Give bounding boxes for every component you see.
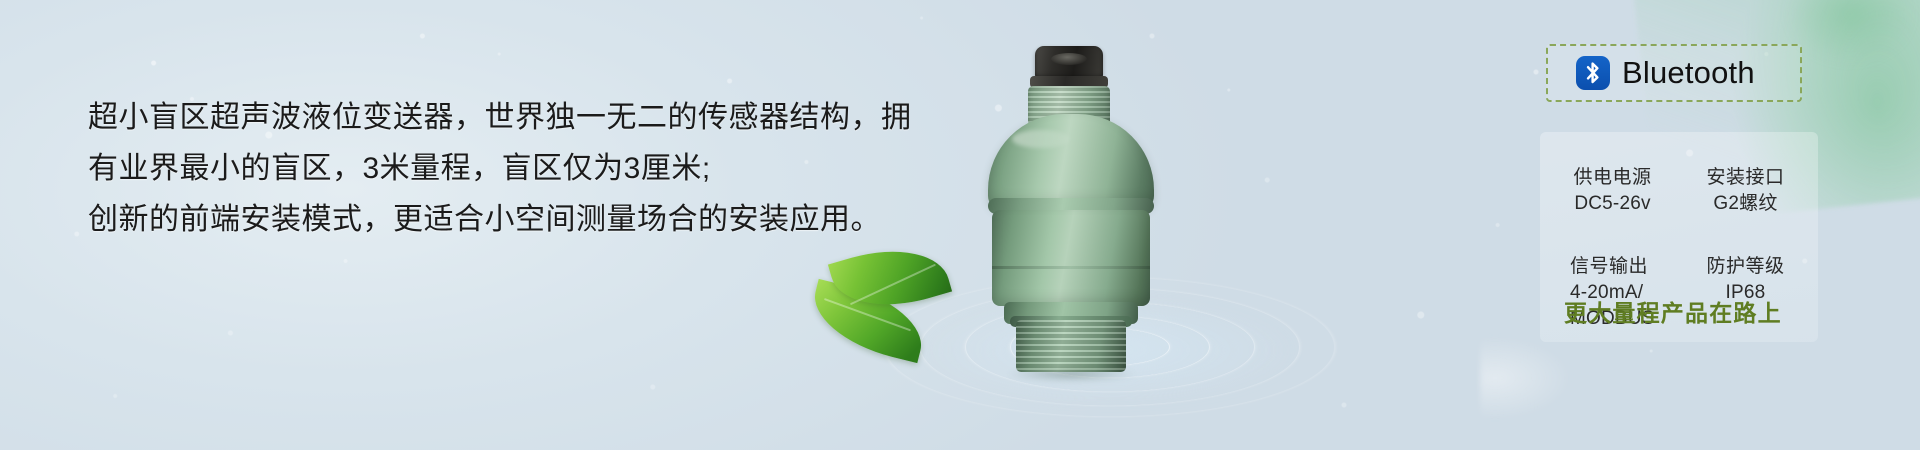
dome-highlight (1012, 130, 1070, 148)
spec-title: 防护等级 (1679, 253, 1812, 280)
product-shadow (1008, 366, 1136, 382)
headline-line-1: 超小盲区超声波液位变送器，世界独一无二的传感器结构，拥 (88, 92, 918, 143)
spec-item-power-supply: 供电电源 DC5-26v (1546, 164, 1679, 227)
spec-value: DC5-26v (1546, 191, 1679, 217)
bluetooth-badge[interactable]: Bluetooth (1546, 44, 1802, 102)
bluetooth-label: Bluetooth (1622, 55, 1755, 91)
leaf-vein (850, 264, 936, 305)
housing-barrel (992, 210, 1150, 306)
green-leaves-decoration (800, 248, 960, 368)
spec-title: 供电电源 (1546, 164, 1679, 191)
headline-line-3: 创新的前端安装模式，更适合小空间测量场合的安装应用。 (88, 194, 918, 245)
product-banner: 超小盲区超声波液位变送器，世界独一无二的传感器结构，拥 有业界最小的盲区，3米量… (0, 0, 1920, 450)
product-image-ultrasonic-level-transmitter (960, 30, 1240, 360)
spec-item-mounting-interface: 安装接口 G2螺纹 (1679, 164, 1812, 227)
bluetooth-icon (1576, 56, 1610, 90)
spec-title: 安装接口 (1679, 164, 1812, 191)
transducer-cap (1035, 46, 1103, 80)
mounting-thread-g2 (1016, 320, 1126, 372)
housing-dome (988, 114, 1154, 210)
spec-title: 信号输出 (1546, 253, 1679, 280)
headline: 超小盲区超声波液位变送器，世界独一无二的传感器结构，拥 有业界最小的盲区，3米量… (88, 92, 918, 245)
spec-value: G2螺纹 (1679, 191, 1812, 217)
tagline: 更大量程产品在路上 (1564, 294, 1782, 328)
housing-seam (992, 266, 1150, 269)
headline-line-2: 有业界最小的盲区，3米量程，盲区仅为3厘米; (88, 143, 918, 194)
spec-panel: Bluetooth 供电电源 DC5-26v 安装接口 G2螺纹 信号输出 4-… (1540, 28, 1840, 408)
